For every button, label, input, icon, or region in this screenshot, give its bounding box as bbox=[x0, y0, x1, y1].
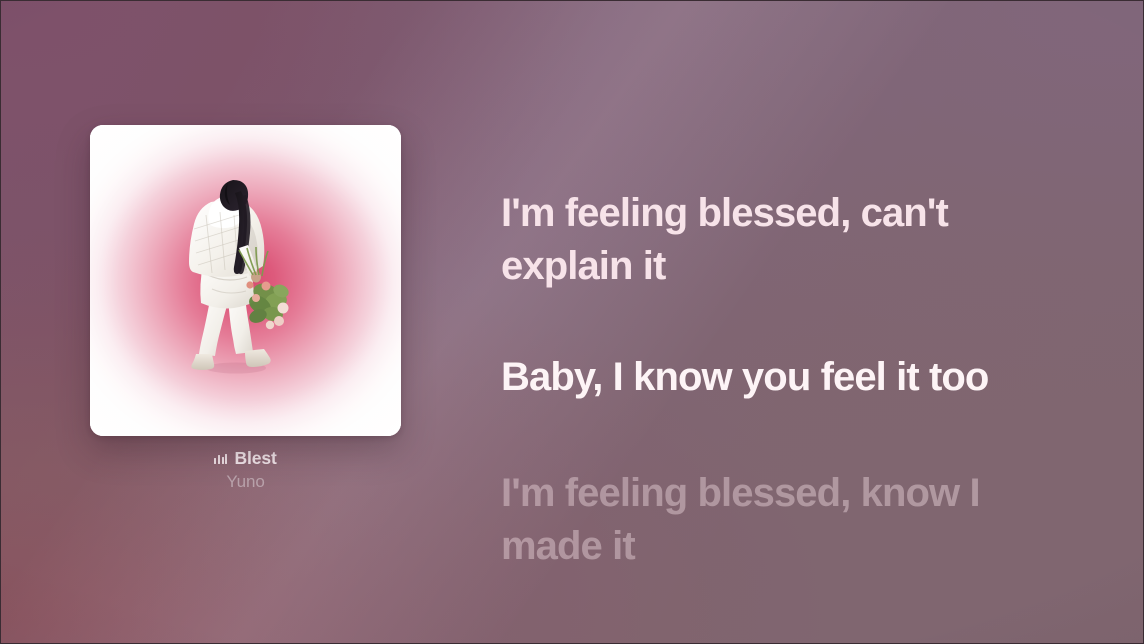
now-playing-panel: Blest Yuno bbox=[90, 125, 401, 492]
lyrics-panel[interactable]: I'm feeling blessed, can't explain it Ba… bbox=[501, 187, 1081, 573]
lyric-line-active[interactable]: Baby, I know you feel it too bbox=[501, 351, 1081, 404]
equalizer-bars-icon bbox=[214, 453, 227, 464]
artwork-figure-illustration bbox=[90, 125, 401, 436]
track-artist: Yuno bbox=[90, 472, 401, 492]
lyric-line-next[interactable]: I'm feeling blessed, know I made it bbox=[501, 467, 1081, 573]
now-playing-screen: Blest Yuno I'm feeling blessed, can't ex… bbox=[0, 0, 1144, 644]
track-title-row: Blest bbox=[90, 450, 401, 468]
track-metadata: Blest Yuno bbox=[90, 450, 401, 492]
track-title: Blest bbox=[234, 450, 276, 468]
album-artwork[interactable] bbox=[90, 125, 401, 436]
lyric-line-previous[interactable]: I'm feeling blessed, can't explain it bbox=[501, 187, 1081, 293]
